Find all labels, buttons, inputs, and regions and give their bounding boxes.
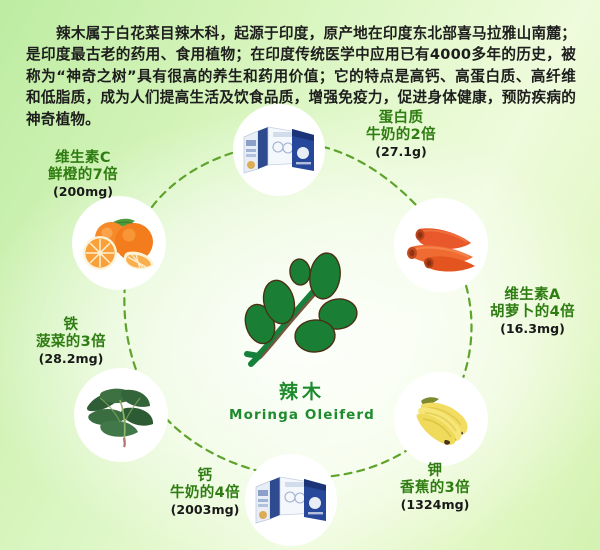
nutrient-comparison-protein: 牛奶的2倍 — [336, 127, 466, 144]
caption-vitamin-a: 维生素A 胡萝卜的4倍 (16.3mg) — [470, 287, 595, 336]
spinach-icon — [74, 368, 168, 462]
nutrient-comparison-vitamin-c: 鲜橙的7倍 — [18, 167, 148, 184]
nutrient-name-vitamin-a: 维生素A — [470, 287, 595, 304]
nutrient-amount-potassium: (1324mg) — [370, 498, 500, 513]
caption-calcium: 钙 牛奶的4倍 (2003mg) — [140, 468, 270, 517]
nutrient-name-calcium: 钙 — [140, 468, 270, 485]
nutrient-name-iron: 铁 — [6, 317, 136, 334]
nutrient-amount-protein: (27.1g) — [336, 145, 466, 160]
nutrient-comparison-calcium: 牛奶的4倍 — [140, 485, 270, 502]
nutrient-comparison-vitamin-a: 胡萝卜的4倍 — [470, 304, 595, 321]
orange-icon — [72, 196, 166, 290]
nutrient-amount-iron: (28.2mg) — [6, 352, 136, 367]
nutrient-name-potassium: 钾 — [370, 463, 500, 480]
nutrient-amount-vitamin-c: (200mg) — [18, 185, 148, 200]
moringa-infographic-poster: 辣木属于白花菜目辣木科，起源于印度，原产地在印度东北部喜马拉雅山南麓；是印度最古… — [0, 0, 600, 550]
moringa-leaf-icon — [237, 252, 367, 370]
nutrient-comparison-potassium: 香蕉的3倍 — [370, 480, 500, 497]
brand-name-cn: 辣木 — [222, 377, 382, 404]
node-iron[interactable] — [74, 368, 168, 462]
nutrient-amount-vitamin-a: (16.3mg) — [470, 322, 595, 337]
product-box-icon — [233, 104, 325, 196]
caption-potassium: 钾 香蕉的3倍 (1324mg) — [370, 463, 500, 512]
caption-protein: 蛋白质 牛奶的2倍 (27.1g) — [336, 110, 466, 159]
node-protein[interactable] — [233, 104, 325, 196]
node-vitamin-a[interactable] — [394, 198, 488, 292]
banana-icon — [394, 372, 488, 466]
node-potassium[interactable] — [394, 372, 488, 466]
nutrient-name-protein: 蛋白质 — [336, 110, 466, 127]
node-vitamin-c[interactable] — [72, 196, 166, 290]
brand-block: 辣木 Moringa Oleiferd — [222, 252, 382, 423]
nutrient-comparison-iron: 菠菜的3倍 — [6, 334, 136, 351]
caption-iron: 铁 菠菜的3倍 (28.2mg) — [6, 317, 136, 366]
carrot-icon — [394, 198, 488, 292]
nutrient-amount-calcium: (2003mg) — [140, 503, 270, 518]
brand-name-en: Moringa Oleiferd — [222, 407, 382, 423]
nutrient-name-vitamin-c: 维生素C — [18, 150, 148, 167]
caption-vitamin-c: 维生素C 鲜橙的7倍 (200mg) — [18, 150, 148, 199]
